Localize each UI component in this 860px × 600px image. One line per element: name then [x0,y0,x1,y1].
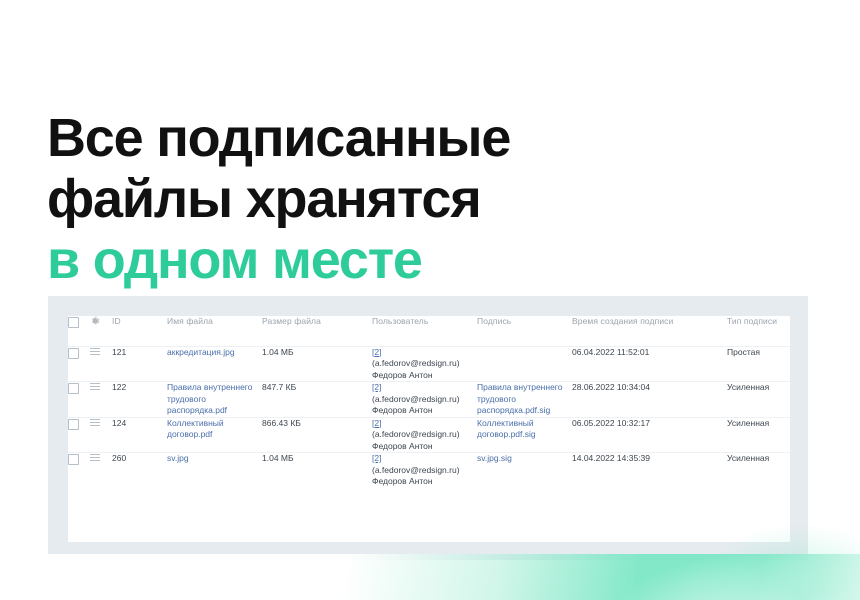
row-menu-cell[interactable] [90,382,112,418]
column-header-user[interactable]: Пользователь [372,316,477,346]
cell-user: [2] (a.fedorov@redsign.ru) Федоров Антон [372,453,477,488]
select-all-cell[interactable] [68,316,90,346]
file-name-link[interactable]: Правила внутреннего трудового распорядка… [167,382,262,417]
column-header-size[interactable]: Размер файла [262,316,372,346]
column-header-name[interactable]: Имя файла [167,316,262,346]
cell-type: Простая [727,346,790,382]
user-email: (a.fedorov@redsign.ru) [372,429,477,441]
user-name: Федоров Антон [372,441,477,453]
user-email: (a.fedorov@redsign.ru) [372,358,477,370]
row-checkbox-icon[interactable] [68,454,79,465]
row-select-cell[interactable] [68,382,90,418]
row-checkbox-icon[interactable] [68,419,79,430]
column-header-id[interactable]: ID [112,316,167,346]
hamburger-icon[interactable] [90,454,100,463]
user-name: Федоров Антон [372,405,477,417]
cell-name[interactable]: Коллективный договор.pdf [167,417,262,453]
table-row[interactable]: 260 sv.jpg 1.04 МБ [2] (a.fedorov@redsig… [68,453,790,488]
signed-files-table: ID Имя файла Размер файла Пользователь П… [68,316,790,488]
select-all-checkbox-icon[interactable] [68,317,79,328]
table-row[interactable]: 121 аккредитация.jpg 1.04 МБ [2] (a.fedo… [68,346,790,382]
cell-name[interactable]: sv.jpg [167,453,262,488]
file-name-link[interactable]: Коллективный договор.pdf [167,418,262,441]
hamburger-icon[interactable] [90,419,100,428]
settings-cell[interactable] [90,316,112,346]
gear-icon[interactable] [90,316,100,326]
cell-type: Усиленная [727,453,790,488]
row-select-cell[interactable] [68,346,90,382]
headline-line-3-accent: в одном месте [47,230,747,291]
cell-user: [2] (a.fedorov@redsign.ru) Федоров Антон [372,417,477,453]
table-row[interactable]: 124 Коллективный договор.pdf 866.43 КБ [… [68,417,790,453]
user-id-link[interactable]: [2] [372,347,477,359]
headline-line-2: файлы хранятся [47,169,481,229]
cell-time: 06.05.2022 10:32:17 [572,417,727,453]
row-select-cell[interactable] [68,453,90,488]
headline-line-1: Все подписанные [47,108,510,168]
signature-link[interactable]: sv.jpg.sig [477,453,572,465]
cell-user: [2] (a.fedorov@redsign.ru) Федоров Антон [372,346,477,382]
column-header-sign[interactable]: Подпись [477,316,572,346]
table-header-row: ID Имя файла Размер файла Пользователь П… [68,316,790,346]
row-menu-cell[interactable] [90,453,112,488]
signature-link[interactable]: Правила внутреннего трудового распорядка… [477,382,572,417]
cell-name[interactable]: Правила внутреннего трудового распорядка… [167,382,262,418]
cell-size: 1.04 МБ [262,346,372,382]
cell-signature[interactable]: Коллективный договор.pdf.sig [477,417,572,453]
cell-size: 847.7 КБ [262,382,372,418]
table-header: ID Имя файла Размер файла Пользователь П… [68,316,790,346]
table-body: 121 аккредитация.jpg 1.04 МБ [2] (a.fedo… [68,346,790,488]
column-header-type[interactable]: Тип подписи [727,316,790,346]
cell-size: 1.04 МБ [262,453,372,488]
column-header-time[interactable]: Время создания подписи [572,316,727,346]
user-email: (a.fedorov@redsign.ru) [372,394,477,406]
row-checkbox-icon[interactable] [68,383,79,394]
hamburger-icon[interactable] [90,348,100,357]
table-row[interactable]: 122 Правила внутреннего трудового распор… [68,382,790,418]
cell-id: 121 [112,346,167,382]
signature-link[interactable]: Коллективный договор.pdf.sig [477,418,572,441]
user-name: Федоров Антон [372,476,477,488]
files-table-card: ID Имя файла Размер файла Пользователь П… [68,316,790,542]
table-panel: ID Имя файла Размер файла Пользователь П… [48,296,808,560]
cell-time: 06.04.2022 11:52:01 [572,346,727,382]
cell-id: 122 [112,382,167,418]
cell-name[interactable]: аккредитация.jpg [167,346,262,382]
row-checkbox-icon[interactable] [68,348,79,359]
user-email: (a.fedorov@redsign.ru) [372,465,477,477]
user-id-link[interactable]: [2] [372,418,477,430]
file-name-link[interactable]: sv.jpg [167,453,262,465]
cell-signature[interactable]: sv.jpg.sig [477,453,572,488]
hamburger-icon[interactable] [90,383,100,392]
cell-id: 124 [112,417,167,453]
row-menu-cell[interactable] [90,346,112,382]
cell-user: [2] (a.fedorov@redsign.ru) Федоров Антон [372,382,477,418]
cell-type: Усиленная [727,382,790,418]
user-name: Федоров Антон [372,370,477,382]
mint-gradient-decoration [0,554,860,600]
row-menu-cell[interactable] [90,417,112,453]
cell-time: 14.04.2022 14:35:39 [572,453,727,488]
cell-id: 260 [112,453,167,488]
cell-type: Усиленная [727,417,790,453]
row-select-cell[interactable] [68,417,90,453]
cell-signature[interactable] [477,346,572,382]
cell-time: 28.06.2022 10:34:04 [572,382,727,418]
user-id-link[interactable]: [2] [372,382,477,394]
file-name-link[interactable]: аккредитация.jpg [167,347,262,359]
cell-size: 866.43 КБ [262,417,372,453]
user-id-link[interactable]: [2] [372,453,477,465]
cell-signature[interactable]: Правила внутреннего трудового распорядка… [477,382,572,418]
